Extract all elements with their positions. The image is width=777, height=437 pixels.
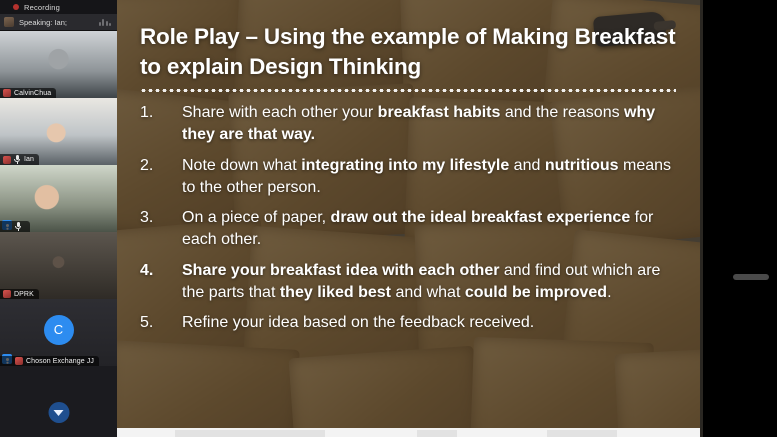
slide-title-divider <box>140 89 676 92</box>
slide-step-number: 4. <box>140 260 182 304</box>
bottom-toolbar-sliver[interactable] <box>117 428 700 437</box>
participant-name: DPRK <box>14 291 34 298</box>
microphone-muted-icon <box>15 222 22 231</box>
slide-step-text: Share your breakfast idea with each othe… <box>182 260 678 304</box>
slide-step-number: 5. <box>140 312 182 334</box>
host-avatar-icon <box>3 156 11 164</box>
slide-step-number: 3. <box>140 207 182 251</box>
participant-tile[interactable] <box>0 165 117 232</box>
recording-label: Recording <box>24 3 60 12</box>
panel-edge-divider <box>700 0 703 437</box>
host-avatar-icon <box>3 89 11 97</box>
slide-step: 1.Share with each other your breakfast h… <box>140 102 678 146</box>
participant-name: Ian <box>24 156 34 163</box>
active-speaker-label: Speaking: Ian; <box>19 18 67 27</box>
recording-indicator-bar: Recording <box>0 0 117 14</box>
filmstrip-scroll-down-icon[interactable] <box>48 402 69 423</box>
host-avatar-icon <box>3 290 11 298</box>
slide-step: 5.Refine your idea based on the feedback… <box>140 312 678 334</box>
participant-name-badge: DPRK <box>0 289 39 299</box>
participant-tile[interactable]: DPRK <box>0 232 117 299</box>
slide-step: 3.On a piece of paper, draw out the idea… <box>140 207 678 251</box>
slide-step-number: 2. <box>140 155 182 199</box>
slide-step-text: On a piece of paper, draw out the ideal … <box>182 207 678 251</box>
avatar: C <box>44 315 74 345</box>
active-speaker-bar: Speaking: Ian; <box>0 14 117 31</box>
screen-share-meeting-window: Recording Speaking: Ian; CalvinChuaIanDP… <box>0 0 777 437</box>
participant-name: CalvinChua <box>14 90 51 97</box>
participant-name-badge: Choson Exchange JJ <box>0 356 99 366</box>
slide-title: Role Play – Using the example of Making … <box>140 22 678 81</box>
slide-step: 2.Note down what integrating into my lif… <box>140 155 678 199</box>
right-side-panel <box>700 0 777 437</box>
participant-name: Choson Exchange JJ <box>26 358 94 365</box>
audio-level-icon <box>99 19 112 26</box>
participant-name-badge: Ian <box>0 154 39 165</box>
slide-step-number: 1. <box>140 102 182 146</box>
slide-step-text: Note down what integrating into my lifes… <box>182 155 678 199</box>
participant-name-badge <box>0 221 30 232</box>
recording-dot-icon <box>13 4 19 10</box>
participant-filmstrip: Recording Speaking: Ian; CalvinChuaIanDP… <box>0 0 117 437</box>
host-avatar-icon <box>15 357 23 365</box>
slide-step-text: Share with each other your breakfast hab… <box>182 102 678 146</box>
participant-name-badge: CalvinChua <box>0 88 56 98</box>
slide-step-list: 1.Share with each other your breakfast h… <box>140 102 678 334</box>
participant-tile[interactable]: Ian <box>0 98 117 165</box>
slide-step-text: Refine your idea based on the feedback r… <box>182 312 678 334</box>
shared-screen-slide[interactable]: Role Play – Using the example of Making … <box>117 0 700 428</box>
participant-tile[interactable]: CChoson Exchange JJ <box>0 299 117 366</box>
resize-handle[interactable] <box>733 274 769 280</box>
participant-tile[interactable]: CalvinChua <box>0 31 117 98</box>
microphone-muted-icon <box>14 155 21 164</box>
participant-tiles: CalvinChuaIanDPRKCChoson Exchange JJ <box>0 31 117 366</box>
active-speaker-thumb <box>4 17 14 27</box>
slide-step: 4.Share your breakfast idea with each ot… <box>140 260 678 304</box>
